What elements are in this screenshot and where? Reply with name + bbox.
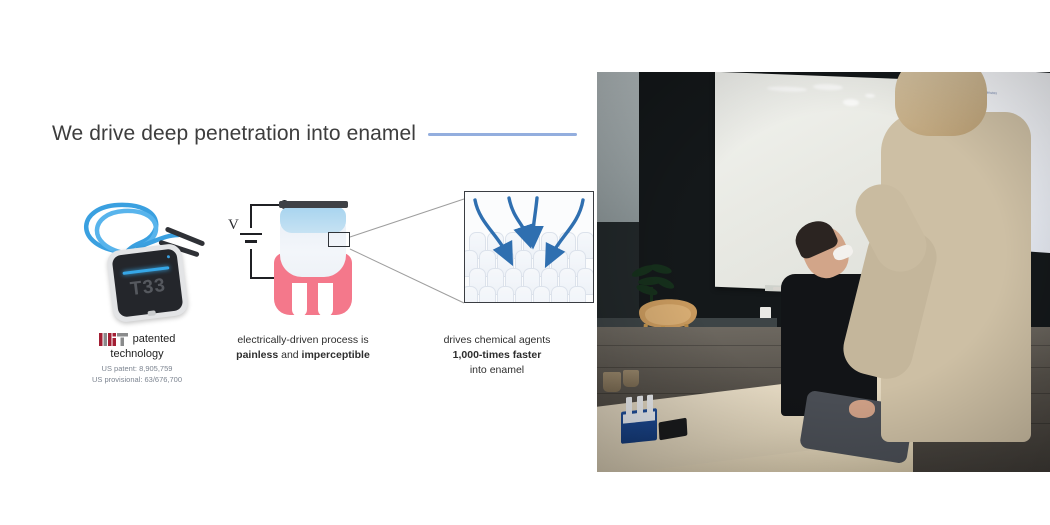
device-screen: T33 <box>111 248 183 317</box>
caption-process-line1: electrically-driven process is <box>228 333 378 348</box>
caption-speed-bold: 1,000-times faster <box>422 348 572 363</box>
device-model-label: T33 <box>129 274 167 300</box>
cup-1 <box>603 372 621 392</box>
gum-notch-left <box>292 283 307 317</box>
magnifier-focus-box <box>328 232 350 247</box>
mit-technology-label: technology <box>62 347 212 361</box>
cup-2 <box>623 370 639 387</box>
electrode-bar <box>279 201 348 208</box>
enamel-detail-illustration <box>422 185 572 320</box>
voltage-source-label: V <box>228 217 239 234</box>
device-indicator-dot <box>167 255 170 258</box>
patent-provisional: US provisional: 63/676,700 <box>62 375 212 386</box>
patent-granted: US patent: 8,905,759 <box>62 364 212 375</box>
caption-process-line2: painless and imperceptible <box>228 348 378 363</box>
column-device: T33 pate <box>62 185 212 320</box>
caption-process: electrically-driven process is painless … <box>228 333 378 363</box>
supply-caddy <box>621 408 657 444</box>
caption-speed: drives chemical agents 1,000-times faste… <box>422 333 572 378</box>
battery-minus-plate <box>245 240 257 243</box>
device-button <box>147 310 156 316</box>
caption-bold-faster: 1,000-times faster <box>453 349 542 361</box>
slide-title-row: We drive deep penetration into enamel <box>52 122 577 146</box>
column-enamel-detail: drives chemical agents 1,000-times faste… <box>422 185 572 320</box>
caption-device: patented technology US patent: 8,905,759… <box>62 333 212 386</box>
caption-bold-imperceptible: imperceptible <box>302 349 370 361</box>
caption-bold-painless: painless <box>236 349 278 361</box>
column-tooth-circuit: V <box>228 185 378 320</box>
device-illustration: T33 <box>62 185 212 320</box>
slide-root: We drive deep penetration into enamel <box>0 0 1050 525</box>
enamel-layer <box>280 207 346 233</box>
caption-speed-line2: into enamel <box>422 363 572 378</box>
standing-clinician <box>859 78 1049 472</box>
vial-3 <box>647 395 653 416</box>
battery-plus-plate <box>240 233 262 235</box>
patent-numbers: US patent: 8,905,759 US provisional: 63/… <box>62 364 212 386</box>
vial-2 <box>637 396 643 417</box>
enamel-detail-panel <box>464 191 594 303</box>
clinician-hair <box>895 72 987 136</box>
gum-notch-right <box>318 283 333 317</box>
circuit-wire-upper-left <box>250 204 252 228</box>
device-body: T33 <box>106 243 189 324</box>
vial-1 <box>626 397 632 418</box>
mit-patented-label: patented <box>133 334 176 346</box>
circuit-wire-lower-left <box>250 249 252 279</box>
mit-logo-line: patented <box>62 333 212 346</box>
penetration-arrows-icon <box>465 192 593 302</box>
caption-speed-line1: drives chemical agents <box>422 333 572 348</box>
caption-joiner: and <box>278 349 301 361</box>
tooth-circuit-illustration: V <box>228 185 378 320</box>
page-title: We drive deep penetration into enamel <box>52 122 416 146</box>
demo-photo: Whitening tooth whitening in office in u… <box>597 72 1050 472</box>
diagram-panels: T33 pate <box>40 185 580 410</box>
mit-logo-icon <box>99 333 129 346</box>
title-accent-rule <box>428 133 577 136</box>
